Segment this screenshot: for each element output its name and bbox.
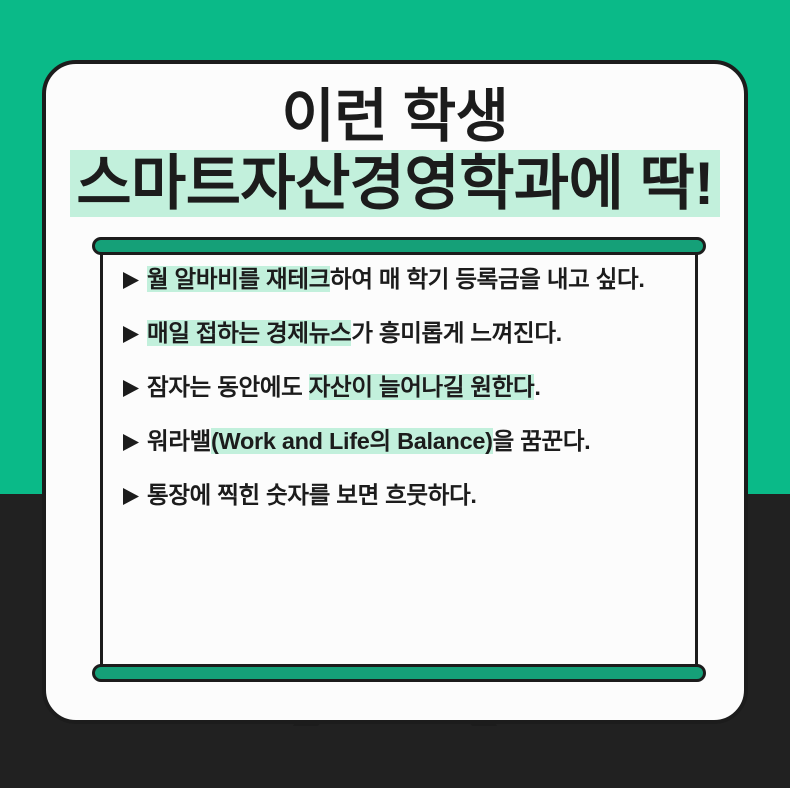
triangle-right-icon xyxy=(121,263,147,290)
bullet-3-plain-lead: 잠자는 동안에도 xyxy=(147,374,309,400)
poster-title: 이런 학생 스마트자산경영학과에 딱! xyxy=(46,86,744,218)
whiteboard-card: 이런 학생 스마트자산경영학과에 딱! 월 알바비를 재테크하여 매 학기 등록… xyxy=(42,60,748,724)
bullet-4-plain-lead: 워라밸 xyxy=(147,428,211,454)
bullet-text-4: 워라밸(Work and Life의 Balance)을 꿈꾼다. xyxy=(147,425,701,458)
triangle-right-icon xyxy=(121,479,147,506)
triangle-right-icon xyxy=(121,371,147,398)
bullet-text-5: 통장에 찍힌 숫자를 보면 흐뭇하다. xyxy=(147,479,701,512)
triangle-right-icon xyxy=(121,317,147,344)
list-item: 매일 접하는 경제뉴스가 흥미롭게 느껴진다. xyxy=(121,317,701,350)
bullet-text-2: 매일 접하는 경제뉴스가 흥미롭게 느껴진다. xyxy=(147,317,701,350)
title-line-1: 이런 학생 xyxy=(46,86,744,148)
title-line-2-highlight: 스마트자산경영학과에 딱! xyxy=(70,150,719,217)
bullet-3-highlight: 자산이 늘어나길 원한다 xyxy=(309,374,535,400)
list-item: 잠자는 동안에도 자산이 늘어나길 원한다. xyxy=(121,371,701,404)
bullet-text-3: 잠자는 동안에도 자산이 늘어나길 원한다. xyxy=(147,371,701,404)
list-item: 통장에 찍힌 숫자를 보면 흐뭇하다. xyxy=(121,479,701,512)
list-item: 월 알바비를 재테크하여 매 학기 등록금을 내고 싶다. xyxy=(121,263,701,296)
triangle-right-icon xyxy=(121,425,147,452)
chart-page: 월 알바비를 재테크하여 매 학기 등록금을 내고 싶다. 매일 접하는 경제뉴… xyxy=(100,246,698,673)
chart-bar-top xyxy=(92,237,706,255)
bullet-text-1: 월 알바비를 재테크하여 매 학기 등록금을 내고 싶다. xyxy=(147,263,701,296)
bullet-5-plain: 통장에 찍힌 숫자를 보면 흐뭇하다. xyxy=(147,482,477,508)
bullet-1-highlight: 월 알바비를 재테크 xyxy=(147,266,330,292)
poster-canvas: 이런 학생 스마트자산경영학과에 딱! 월 알바비를 재테크하여 매 학기 등록… xyxy=(0,0,790,788)
chart-bar-bottom xyxy=(92,664,706,682)
bullet-list: 월 알바비를 재테크하여 매 학기 등록금을 내고 싶다. 매일 접하는 경제뉴… xyxy=(103,263,701,512)
flip-chart: 월 알바비를 재테크하여 매 학기 등록금을 내고 싶다. 매일 접하는 경제뉴… xyxy=(92,237,706,682)
bullet-2-plain: 가 흥미롭게 느껴진다. xyxy=(351,320,562,346)
bullet-4-highlight: (Work and Life의 Balance) xyxy=(211,428,493,454)
bullet-2-highlight: 매일 접하는 경제뉴스 xyxy=(147,320,351,346)
bullet-3-plain-tail: . xyxy=(534,374,540,400)
bullet-4-plain-tail: 을 꿈꾼다. xyxy=(493,428,591,454)
title-line-2: 스마트자산경영학과에 딱! xyxy=(46,150,744,218)
bullet-1-plain: 하여 매 학기 등록금을 내고 싶다. xyxy=(330,266,645,292)
list-item: 워라밸(Work and Life의 Balance)을 꿈꾼다. xyxy=(121,425,701,458)
